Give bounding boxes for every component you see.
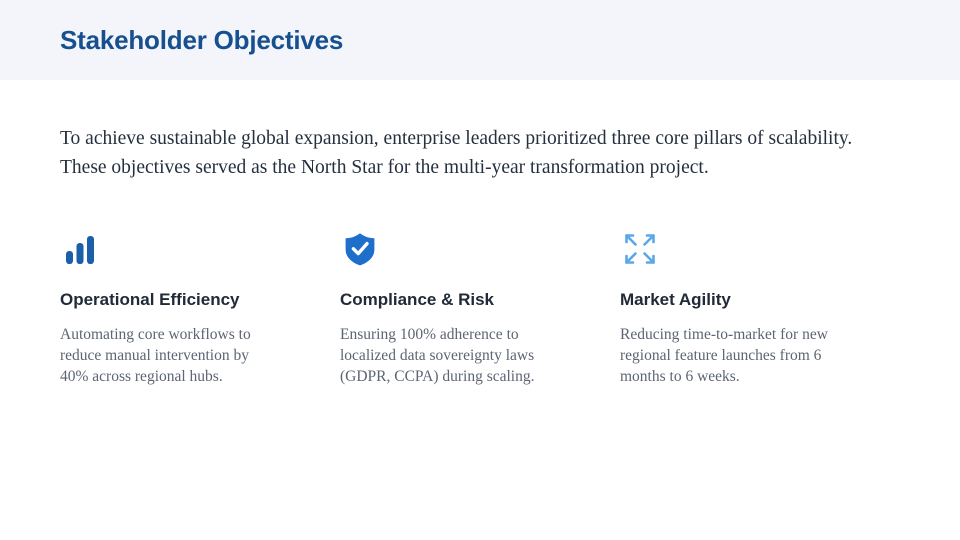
slide-root: Stakeholder Objectives To achieve sustai… bbox=[0, 0, 960, 540]
card-description: Ensuring 100% adherence to localized dat… bbox=[340, 324, 550, 387]
intro-paragraph: To achieve sustainable global expansion,… bbox=[60, 124, 860, 182]
shield-check-icon bbox=[340, 229, 380, 274]
objective-card: Operational Efficiency Automating core w… bbox=[60, 228, 340, 387]
card-icon-slot bbox=[60, 228, 270, 274]
slide-header: Stakeholder Objectives bbox=[0, 0, 960, 80]
expand-arrows-icon bbox=[620, 229, 660, 274]
card-icon-slot bbox=[340, 228, 550, 274]
card-title: Market Agility bbox=[620, 290, 830, 310]
page-title: Stakeholder Objectives bbox=[60, 26, 343, 55]
card-description: Reducing time-to-market for new regional… bbox=[620, 324, 830, 387]
card-description: Automating core workflows to reduce manu… bbox=[60, 324, 270, 387]
objective-card: Compliance & Risk Ensuring 100% adherenc… bbox=[340, 228, 620, 387]
card-title: Operational Efficiency bbox=[60, 290, 270, 310]
card-title: Compliance & Risk bbox=[340, 290, 550, 310]
card-icon-slot bbox=[620, 228, 830, 274]
intro-section: To achieve sustainable global expansion,… bbox=[0, 80, 960, 182]
objective-cards: Operational Efficiency Automating core w… bbox=[0, 182, 960, 387]
bar-chart-icon bbox=[60, 229, 100, 274]
objective-card: Market Agility Reducing time-to-market f… bbox=[620, 228, 900, 387]
